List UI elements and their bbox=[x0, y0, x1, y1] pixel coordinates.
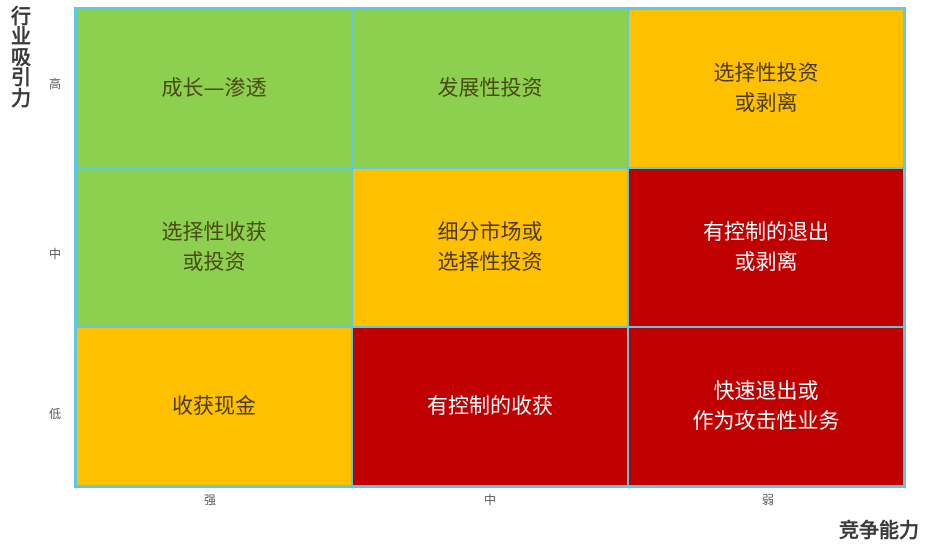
x-axis-title: 竞争能力 bbox=[839, 514, 919, 543]
y-axis-tick-medium: 中 bbox=[40, 245, 70, 262]
matrix-cell-low-weak[interactable]: 快速退出或 作为攻击性业务 bbox=[629, 328, 903, 485]
matrix-cell-label: 细分市场或 选择性投资 bbox=[438, 218, 543, 278]
matrix-cell-label: 快速退出或 作为攻击性业务 bbox=[693, 377, 840, 437]
matrix-cell-high-medium[interactable]: 发展性投资 bbox=[353, 10, 627, 167]
y-axis-title-char: 力 bbox=[4, 88, 38, 108]
y-axis-title-char: 业 bbox=[4, 26, 38, 46]
matrix-cell-label: 有控制的收获 bbox=[427, 392, 553, 422]
x-axis-tick-medium: 中 bbox=[430, 491, 550, 508]
y-axis-title-char: 吸 bbox=[4, 47, 38, 67]
matrix-cell-high-strong[interactable]: 成长—渗透 bbox=[77, 10, 351, 167]
matrix-cell-label: 收获现金 bbox=[172, 392, 256, 422]
matrix-cell-high-weak[interactable]: 选择性投资 或剥离 bbox=[629, 10, 903, 167]
matrix-cell-medium-medium[interactable]: 细分市场或 选择性投资 bbox=[353, 169, 627, 326]
y-axis-title-char: 引 bbox=[4, 67, 38, 87]
x-axis-tick-weak: 弱 bbox=[708, 491, 828, 508]
matrix-cell-label: 发展性投资 bbox=[438, 74, 543, 104]
matrix-grid: 成长—渗透 发展性投资 选择性投资 或剥离 选择性收获 或投资 细分市场或 选择… bbox=[74, 7, 906, 488]
y-axis-tick-high: 高 bbox=[40, 75, 70, 92]
matrix-cell-low-strong[interactable]: 收获现金 bbox=[77, 328, 351, 485]
matrix-cell-label: 选择性投资 或剥离 bbox=[714, 59, 819, 119]
strategy-matrix-page: 行 业 吸 引 力 高 中 低 成长—渗透 发展性投资 选择性投资 或剥离 选择… bbox=[0, 0, 939, 550]
matrix-cell-low-medium[interactable]: 有控制的收获 bbox=[353, 328, 627, 485]
x-axis-tick-strong: 强 bbox=[150, 491, 270, 508]
y-axis-title-char: 行 bbox=[4, 6, 38, 26]
y-axis-title: 行 业 吸 引 力 bbox=[4, 6, 38, 108]
matrix-cell-label: 成长—渗透 bbox=[162, 74, 267, 104]
matrix-cell-medium-weak[interactable]: 有控制的退出 或剥离 bbox=[629, 169, 903, 326]
matrix-cell-medium-strong[interactable]: 选择性收获 或投资 bbox=[77, 169, 351, 326]
matrix-cell-label: 有控制的退出 或剥离 bbox=[703, 218, 829, 278]
matrix-cell-label: 选择性收获 或投资 bbox=[162, 218, 267, 278]
y-axis-tick-low: 低 bbox=[40, 405, 70, 422]
